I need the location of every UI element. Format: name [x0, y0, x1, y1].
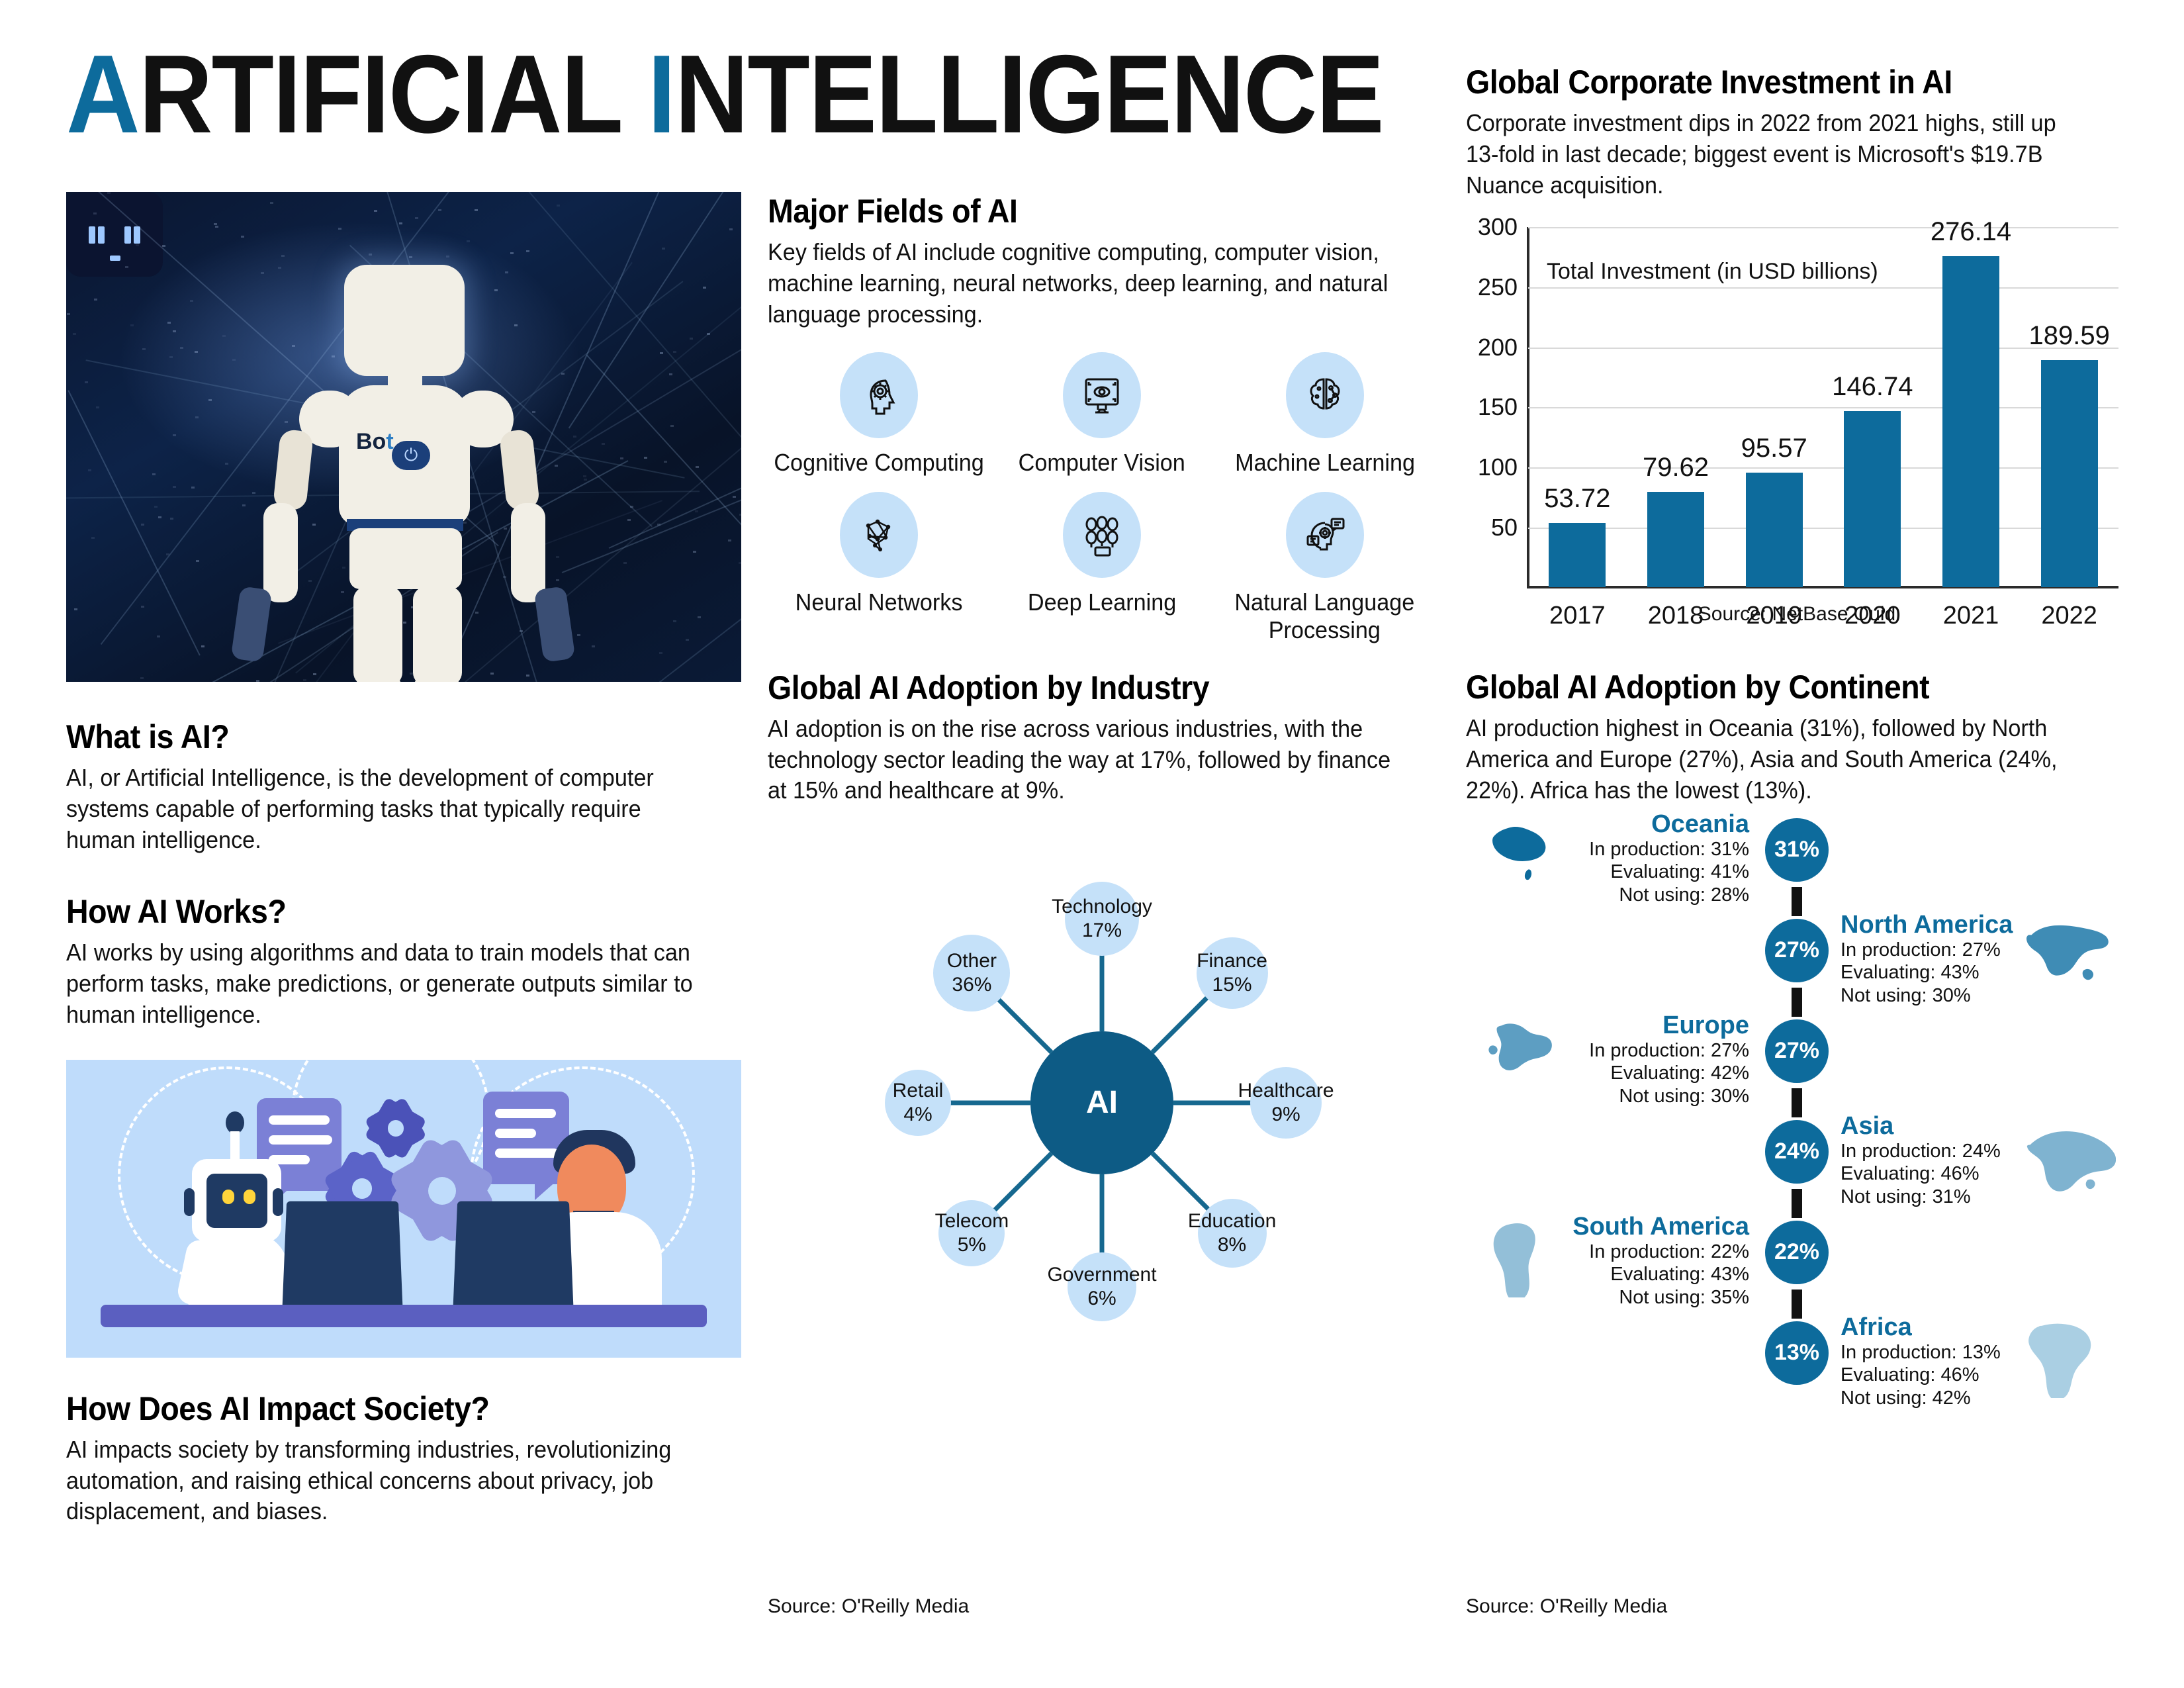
city-light	[341, 591, 344, 593]
robot-hand-right	[534, 586, 576, 663]
city-light	[403, 622, 406, 624]
city-light	[142, 348, 146, 350]
continent-row-south-america[interactable]: 22%South AmericaIn production: 22%Evalua…	[1466, 1221, 2128, 1287]
city-light	[514, 324, 518, 326]
continent-connector	[1792, 887, 1802, 916]
chart-bar-value: 146.74	[1832, 372, 1913, 402]
continent-info: South AmericaIn production: 22%Evaluatin…	[1572, 1214, 1749, 1309]
city-light	[623, 562, 627, 564]
chart-y-tick-label: 300	[1478, 213, 1518, 241]
city-light	[556, 579, 559, 581]
chart-bar-2019[interactable]	[1746, 473, 1803, 587]
city-light	[526, 250, 529, 252]
city-light	[583, 475, 586, 477]
continent-badge: 31%	[1765, 818, 1829, 882]
network-line	[725, 192, 741, 682]
chart-gridline	[1528, 407, 2118, 408]
city-light	[173, 330, 176, 332]
city-light	[222, 335, 226, 337]
city-light	[504, 528, 507, 530]
industry-node-finance[interactable]: Finance15%	[1197, 937, 1268, 1009]
continent-timeline: 31%OceaniaIn production: 31%Evaluating: …	[1466, 818, 2128, 1414]
city-light	[312, 524, 316, 526]
continent-in-production: In production: 22%	[1572, 1241, 1749, 1264]
city-light	[693, 551, 696, 553]
city-light	[214, 223, 217, 225]
impact-body: AI impacts society by transforming indus…	[66, 1434, 695, 1527]
field-cell-neural-networks[interactable]: Neural Networks	[768, 492, 991, 645]
city-light	[338, 228, 341, 230]
continent-name: Europe	[1589, 1013, 1749, 1039]
illu-robot-eye-left	[222, 1190, 234, 1204]
illu-robot-ear-right	[273, 1188, 283, 1216]
city-light	[438, 209, 441, 211]
continent-in-production: In production: 27%	[1841, 939, 2013, 962]
city-light	[620, 457, 623, 459]
chart-gridline	[1528, 287, 2118, 289]
city-light	[475, 612, 478, 614]
industry-node-value: 17%	[1082, 919, 1122, 943]
city-light	[467, 240, 470, 242]
chart-y-tick-label: 50	[1491, 514, 1518, 541]
robot-hand-left	[231, 586, 273, 663]
robot-hip	[349, 528, 462, 589]
africa-map-icon	[2017, 1319, 2116, 1398]
what-is-ai-heading: What is AI?	[66, 718, 694, 756]
australia-map-icon	[1474, 816, 1573, 895]
city-light	[88, 469, 91, 471]
continent-name: South America	[1572, 1214, 1749, 1241]
chart-x-tick-label: 2021	[1943, 602, 1999, 630]
field-label: Machine Learning	[1235, 449, 1415, 477]
city-light	[162, 245, 165, 247]
continent-evaluating: Evaluating: 42%	[1589, 1062, 1749, 1085]
chart-bar-2018[interactable]	[1647, 492, 1704, 587]
investment-heading: Global Corporate Investment in AI	[1466, 63, 2081, 101]
robot-forearm-right	[511, 503, 545, 602]
continent-name: Oceania	[1589, 812, 1749, 838]
field-cell-deep-learning[interactable]: Deep Learning	[991, 492, 1214, 645]
chart-y-tick-label: 250	[1478, 273, 1518, 301]
city-light	[729, 228, 733, 230]
continent-evaluating: Evaluating: 46%	[1841, 1162, 2001, 1186]
robot-bot-badge: Bot	[356, 429, 394, 455]
right-column: Global Corporate Investment in AI Corpor…	[1466, 63, 2128, 1414]
city-light	[662, 248, 665, 250]
field-cell-cognitive-computing[interactable]: Cognitive Computing	[768, 352, 991, 477]
city-light	[169, 356, 173, 358]
continent-connector	[1792, 1088, 1802, 1117]
continent-info: AsiaIn production: 24%Evaluating: 46%Not…	[1841, 1113, 2001, 1209]
continent-not-using: Not using: 28%	[1589, 884, 1749, 907]
chart-bar-2022[interactable]	[2041, 360, 2098, 588]
city-light	[739, 562, 741, 564]
city-light	[308, 580, 312, 582]
robot-thigh-right	[413, 586, 462, 682]
industry-node-healthcare[interactable]: Healthcare9%	[1250, 1067, 1322, 1139]
continent-evaluating: Evaluating: 43%	[1572, 1263, 1749, 1286]
major-fields-icon-grid: Cognitive ComputingComputer VisionMachin…	[768, 352, 1436, 659]
continent-row-africa[interactable]: 13%AfricaIn production: 13%Evaluating: 4…	[1466, 1321, 2128, 1387]
city-light	[733, 496, 736, 498]
city-light	[85, 381, 88, 383]
industry-node-education[interactable]: Education8%	[1198, 1199, 1267, 1268]
city-light	[664, 461, 667, 463]
city-light	[196, 560, 199, 562]
illu-laptop-right	[453, 1201, 574, 1306]
city-light	[242, 504, 246, 506]
page-title: ARTIFICIAL INTELLIGENCE	[66, 38, 1383, 150]
chart-bar-value: 53.72	[1544, 484, 1610, 514]
city-light	[303, 679, 306, 681]
city-light	[592, 645, 595, 647]
city-light	[342, 567, 345, 569]
robot-eye-left	[89, 226, 95, 244]
industry-node-technology[interactable]: Technology17%	[1065, 882, 1139, 956]
field-label: Deep Learning	[1028, 588, 1176, 616]
continent-in-production: In production: 31%	[1589, 838, 1749, 861]
city-light	[332, 355, 335, 357]
brain-circuit-icon	[1286, 352, 1364, 438]
city-light	[170, 518, 173, 520]
title-rest-2: NTELLIGENCE	[675, 32, 1383, 156]
city-light	[225, 463, 228, 465]
humanoid-robot-photo: Bot	[66, 192, 741, 682]
city-light	[195, 416, 199, 418]
investment-bar-chart: Total Investment (in USD billions) 50100…	[1466, 214, 2128, 644]
continent-evaluating: Evaluating: 46%	[1841, 1364, 2001, 1387]
robot-head	[344, 265, 465, 376]
city-light	[673, 351, 676, 353]
city-light	[190, 300, 193, 302]
chart-gridline	[1528, 227, 2118, 228]
continent-info: EuropeIn production: 27%Evaluating: 42%N…	[1589, 1013, 1749, 1108]
monitor-eye-icon	[1063, 352, 1141, 438]
chart-x-tick-label: 2018	[1648, 602, 1704, 630]
city-light	[292, 345, 295, 347]
city-light	[167, 322, 171, 324]
city-light	[696, 466, 699, 468]
city-light	[195, 351, 198, 353]
continent-badge: 24%	[1765, 1120, 1829, 1184]
industry-node-value: 5%	[958, 1233, 986, 1257]
city-light	[107, 192, 111, 194]
south-america-map-icon	[1474, 1218, 1573, 1297]
city-light	[557, 205, 560, 207]
middle-column: Major Fields of AI Key fields of AI incl…	[768, 192, 1436, 1386]
city-light	[261, 272, 264, 274]
city-light	[627, 519, 631, 521]
city-light	[739, 514, 741, 516]
field-label: Computer Vision	[1019, 449, 1185, 477]
field-cell-computer-vision[interactable]: Computer Vision	[991, 352, 1214, 477]
field-label: Cognitive Computing	[774, 449, 984, 477]
chart-x-axis	[1527, 586, 2118, 588]
asia-map-icon	[2017, 1117, 2116, 1197]
head-gear-icon	[840, 352, 918, 438]
city-light	[374, 210, 377, 212]
robot-and-human-illustration	[66, 1060, 741, 1358]
how-ai-works-heading: How AI Works?	[66, 892, 694, 931]
robot-upperarm-right	[499, 429, 540, 512]
city-light	[278, 267, 281, 269]
continent-badge: 22%	[1765, 1221, 1829, 1284]
robot-eye-left2	[98, 226, 105, 244]
city-light	[526, 675, 529, 677]
city-light	[270, 202, 273, 204]
city-light	[505, 271, 508, 273]
industry-node-value: 8%	[1218, 1233, 1246, 1257]
city-light	[695, 510, 698, 512]
investment-body: Corporate investment dips in 2022 from 2…	[1466, 108, 2095, 201]
city-light	[256, 680, 259, 682]
city-light	[494, 289, 498, 291]
city-light	[141, 606, 144, 608]
city-light	[152, 473, 156, 475]
continent-evaluating: Evaluating: 43%	[1841, 961, 2013, 984]
field-cell-natural-language-processing[interactable]: Natural Language Processing	[1213, 492, 1436, 645]
continent-connector	[1792, 988, 1802, 1017]
network-line	[68, 390, 201, 655]
illu-robot-screen	[206, 1174, 267, 1228]
chart-x-tick-label: 2019	[1746, 602, 1802, 630]
illu-desk	[101, 1305, 707, 1327]
city-light	[281, 255, 285, 257]
city-light	[94, 299, 97, 301]
chart-gridline	[1528, 528, 2118, 529]
continent-badge: 13%	[1765, 1321, 1829, 1385]
continent-connector	[1792, 1189, 1802, 1218]
continent-not-using: Not using: 42%	[1841, 1387, 2001, 1410]
industry-node-label: Healthcare	[1238, 1079, 1334, 1103]
chart-bar-2020[interactable]	[1844, 411, 1901, 587]
title-accent-i: I	[647, 32, 674, 156]
chart-series-label: Total Investment (in USD billions)	[1547, 259, 1878, 285]
city-light	[446, 256, 449, 258]
city-light	[73, 333, 76, 335]
city-light	[670, 425, 674, 427]
chart-bar-value: 79.62	[1643, 453, 1709, 483]
what-is-ai-body: AI, or Artificial Intelligence, is the d…	[66, 763, 670, 855]
continent-in-production: In production: 13%	[1841, 1341, 2001, 1364]
industry-hub-label: AI	[1086, 1084, 1118, 1122]
illu-robot-antenna	[230, 1131, 240, 1159]
city-light	[232, 359, 236, 361]
field-label: Natural Language Processing	[1219, 588, 1431, 645]
continent-row-europe[interactable]: 27%EuropeIn production: 27%Evaluating: 4…	[1466, 1019, 2128, 1086]
industry-node-government[interactable]: Government6%	[1068, 1252, 1136, 1321]
continent-name: North America	[1841, 912, 2013, 939]
city-light	[173, 486, 176, 488]
continent-source: Source: O'Reilly Media	[1466, 1595, 1667, 1618]
city-light	[555, 465, 558, 467]
city-light	[91, 537, 95, 539]
industry-node-retail[interactable]: Retail4%	[885, 1070, 951, 1136]
continent-row-north-america[interactable]: 27%North AmericaIn production: 27%Evalua…	[1466, 919, 2128, 985]
field-label: Neural Networks	[796, 588, 963, 616]
adoption-continent-heading: Global AI Adoption by Continent	[1466, 668, 2081, 706]
field-cell-machine-learning[interactable]: Machine Learning	[1213, 352, 1436, 477]
adoption-industry-body: AI adoption is on the rise across variou…	[768, 714, 1396, 806]
continent-row-oceania[interactable]: 31%OceaniaIn production: 31%Evaluating: …	[1466, 818, 2128, 884]
continent-name: Asia	[1841, 1113, 2001, 1140]
network-line	[608, 289, 741, 549]
city-light	[573, 436, 576, 438]
city-light	[698, 616, 701, 618]
chart-x-tick-label: 2022	[2041, 602, 2097, 630]
robot-mouth	[110, 256, 120, 261]
network-line	[732, 375, 741, 682]
city-light	[415, 217, 418, 219]
city-light	[130, 324, 134, 326]
continent-in-production: In production: 27%	[1589, 1039, 1749, 1062]
robot-eye-right2	[134, 226, 140, 244]
industry-node-other[interactable]: Other36%	[933, 935, 1010, 1011]
city-light	[241, 236, 244, 238]
city-light	[285, 421, 288, 423]
left-column: Bot What is AI? AI, or Artificial Intell…	[66, 192, 741, 1527]
industry-node-label: Finance	[1197, 949, 1267, 973]
city-light	[154, 506, 158, 508]
industry-node-label: Retail	[893, 1079, 944, 1103]
city-light	[136, 244, 139, 246]
city-light	[602, 443, 605, 445]
continent-not-using: Not using: 31%	[1841, 1186, 2001, 1209]
continent-not-using: Not using: 30%	[1589, 1085, 1749, 1108]
city-light	[313, 673, 316, 675]
robot-thigh-left	[353, 586, 402, 682]
continent-not-using: Not using: 30%	[1841, 984, 2013, 1008]
city-light	[399, 222, 402, 224]
neural-network-icon	[840, 492, 918, 578]
city-light	[686, 639, 689, 641]
illu-robot-antenna-ball	[226, 1111, 244, 1134]
chart-bar-value: 189.59	[2028, 321, 2109, 351]
illu-robot-ear-left	[184, 1188, 195, 1216]
industry-node-label: Education	[1188, 1209, 1276, 1233]
industry-node-label: Technology	[1052, 895, 1152, 919]
chart-bar-value: 276.14	[1931, 217, 2011, 247]
continent-badge: 27%	[1765, 919, 1829, 982]
city-light	[659, 652, 662, 654]
how-ai-works-body: AI works by using algorithms and data to…	[66, 937, 695, 1030]
continent-in-production: In production: 24%	[1841, 1140, 2001, 1163]
industry-source: Source: O'Reilly Media	[768, 1595, 969, 1618]
adoption-continent-body: AI production highest in Oceania (31%), …	[1466, 713, 2095, 806]
layered-nodes-icon	[1063, 492, 1141, 578]
chart-bar-2021[interactable]	[1942, 256, 1999, 588]
chart-bar-2017[interactable]	[1549, 523, 1606, 587]
industry-node-value: 6%	[1087, 1287, 1116, 1311]
major-fields-heading: Major Fields of AI	[768, 192, 1389, 230]
continent-badge: 27%	[1765, 1019, 1829, 1083]
city-light	[157, 635, 160, 637]
city-light	[644, 457, 647, 459]
network-line	[586, 355, 741, 682]
impact-heading: How Does AI Impact Society?	[66, 1389, 694, 1428]
continent-not-using: Not using: 35%	[1572, 1286, 1749, 1309]
robot-shin-right	[414, 674, 459, 682]
continent-evaluating: Evaluating: 41%	[1589, 861, 1749, 884]
chart-y-tick-label: 100	[1478, 453, 1518, 481]
city-light	[556, 556, 559, 558]
continent-name: Africa	[1841, 1315, 2001, 1341]
continent-connector	[1792, 1289, 1802, 1319]
city-light	[490, 673, 494, 675]
city-light	[728, 539, 731, 541]
chart-y-tick-label: 150	[1478, 393, 1518, 421]
city-light	[93, 212, 97, 214]
industry-node-value: 9%	[1271, 1103, 1300, 1127]
city-light	[125, 266, 128, 268]
city-light	[67, 313, 70, 315]
city-light	[201, 645, 205, 647]
city-light	[180, 347, 183, 349]
city-light	[532, 411, 535, 413]
chart-gridline	[1528, 467, 2118, 469]
city-light	[252, 492, 255, 494]
city-light	[673, 620, 676, 622]
major-fields-body: Key fields of AI include cognitive compu…	[768, 237, 1396, 330]
robot-upperarm-left	[273, 429, 314, 512]
city-light	[660, 352, 663, 354]
industry-hub-diagram: Technology17%Finance15%Healthcare9%Educa…	[768, 817, 1436, 1386]
continent-row-asia[interactable]: 24%AsiaIn production: 24%Evaluating: 46%…	[1466, 1120, 2128, 1186]
industry-node-value: 4%	[903, 1103, 932, 1127]
industry-node-telecom[interactable]: Telecom5%	[938, 1200, 1005, 1266]
city-light	[158, 516, 161, 518]
gear-small-icon	[377, 1110, 414, 1147]
robot-forearm-left	[263, 503, 298, 602]
industry-node-value: 15%	[1212, 973, 1252, 997]
robot-eye-right	[124, 226, 131, 244]
city-light	[141, 524, 144, 526]
robot-power-button	[392, 441, 430, 470]
city-light	[669, 373, 672, 375]
industry-hub-center: AI	[1030, 1031, 1173, 1174]
title-rest-1: RTIFICIAL	[139, 32, 648, 156]
city-light	[690, 338, 693, 340]
city-light	[191, 487, 195, 489]
city-light	[577, 634, 580, 636]
city-light	[215, 226, 218, 228]
city-light	[74, 608, 77, 610]
robot-shin-left	[356, 674, 401, 682]
illu-laptop-left	[283, 1201, 403, 1306]
city-light	[584, 479, 587, 481]
chart-x-tick-label: 2020	[1844, 602, 1901, 630]
continent-info: North AmericaIn production: 27%Evaluatin…	[1841, 912, 2013, 1008]
north-america-map-icon	[2017, 916, 2116, 996]
city-light	[463, 522, 467, 524]
continent-info: OceaniaIn production: 31%Evaluating: 41%…	[1589, 812, 1749, 907]
industry-node-label: Telecom	[935, 1209, 1009, 1233]
chart-bar-value: 95.57	[1741, 434, 1807, 463]
title-accent-a: A	[66, 32, 139, 156]
city-light	[140, 677, 144, 679]
city-light	[96, 406, 99, 408]
chart-plot-area: Total Investment (in USD billions) 50100…	[1528, 227, 2118, 587]
adoption-industry-heading: Global AI Adoption by Industry	[768, 669, 1389, 707]
europe-map-icon	[1474, 1017, 1573, 1096]
head-chat-gear-icon	[1286, 492, 1364, 578]
chart-y-tick-label: 200	[1478, 334, 1518, 361]
city-light	[703, 287, 706, 289]
industry-node-label: Government	[1047, 1263, 1156, 1287]
city-light	[510, 252, 514, 254]
city-light	[409, 256, 412, 258]
industry-node-value: 36%	[952, 973, 991, 997]
